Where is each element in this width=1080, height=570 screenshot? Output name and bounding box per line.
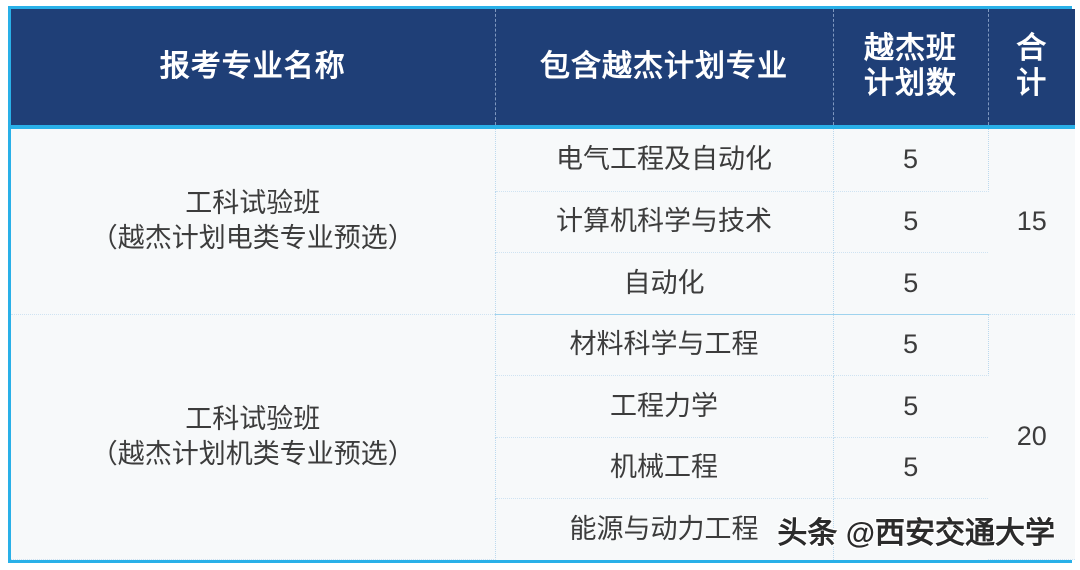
included-major-cell: 材料科学与工程 (495, 314, 833, 376)
included-major-cell: 自动化 (495, 253, 833, 315)
column-header-total-line-1: 合 (989, 32, 1076, 67)
group-total-cell: 20 (988, 314, 1075, 559)
majors-plan-table: 报考专业名称 包含越杰计划专业 越杰班 计划数 合 计 工科试验班 (11, 9, 1075, 560)
plan-count-cell: 5 (833, 191, 988, 253)
group-name-line-1: 工科试验班 (17, 186, 489, 221)
table-header: 报考专业名称 包含越杰计划专业 越杰班 计划数 合 计 (11, 9, 1075, 127)
column-header-included-majors: 包含越杰计划专业 (495, 9, 833, 127)
group-name-line-2: （越杰计划机类专业预选） (17, 437, 489, 472)
included-major-cell: 机械工程 (495, 437, 833, 499)
included-major-cell: 工程力学 (495, 376, 833, 438)
plan-count-cell: 5 (833, 127, 988, 191)
plan-count-cell: 5 (833, 253, 988, 315)
column-header-yuejie-plan-count: 越杰班 计划数 (833, 9, 988, 127)
column-header-total: 合 计 (988, 9, 1075, 127)
included-major-cell: 计算机科学与技术 (495, 191, 833, 253)
table-row: 工科试验班 （越杰计划电类专业预选） 电气工程及自动化 5 15 (11, 127, 1075, 191)
table-header-row: 报考专业名称 包含越杰计划专业 越杰班 计划数 合 计 (11, 9, 1075, 127)
group-name-cell: 工科试验班 （越杰计划机类专业预选） (11, 314, 495, 559)
plan-count-cell: 5 (833, 376, 988, 438)
included-major-cell: 电气工程及自动化 (495, 127, 833, 191)
group-name-cell: 工科试验班 （越杰计划电类专业预选） (11, 127, 495, 314)
plan-count-cell: 5 (833, 437, 988, 499)
column-header-yuejie-plan-count-line-1: 越杰班 (834, 32, 988, 67)
column-header-major-name: 报考专业名称 (11, 9, 495, 127)
table-row: 工科试验班 （越杰计划机类专业预选） 材料科学与工程 5 20 (11, 314, 1075, 376)
plan-count-cell: 5 (833, 314, 988, 376)
group-total-cell: 15 (988, 127, 1075, 314)
table-body: 工科试验班 （越杰计划电类专业预选） 电气工程及自动化 5 15 计算机科学与技… (11, 127, 1075, 560)
majors-plan-table-container: 报考专业名称 包含越杰计划专业 越杰班 计划数 合 计 工科试验班 (8, 6, 1072, 563)
group-name-line-2: （越杰计划电类专业预选） (17, 221, 489, 256)
column-header-major-name-line-1: 报考专业名称 (11, 50, 495, 85)
plan-count-cell (833, 499, 988, 560)
column-header-included-majors-line-1: 包含越杰计划专业 (496, 50, 833, 85)
column-header-yuejie-plan-count-line-2: 计划数 (834, 67, 988, 102)
included-major-cell: 能源与动力工程 (495, 499, 833, 560)
column-header-total-line-2: 计 (989, 67, 1076, 102)
group-name-line-1: 工科试验班 (17, 402, 489, 437)
